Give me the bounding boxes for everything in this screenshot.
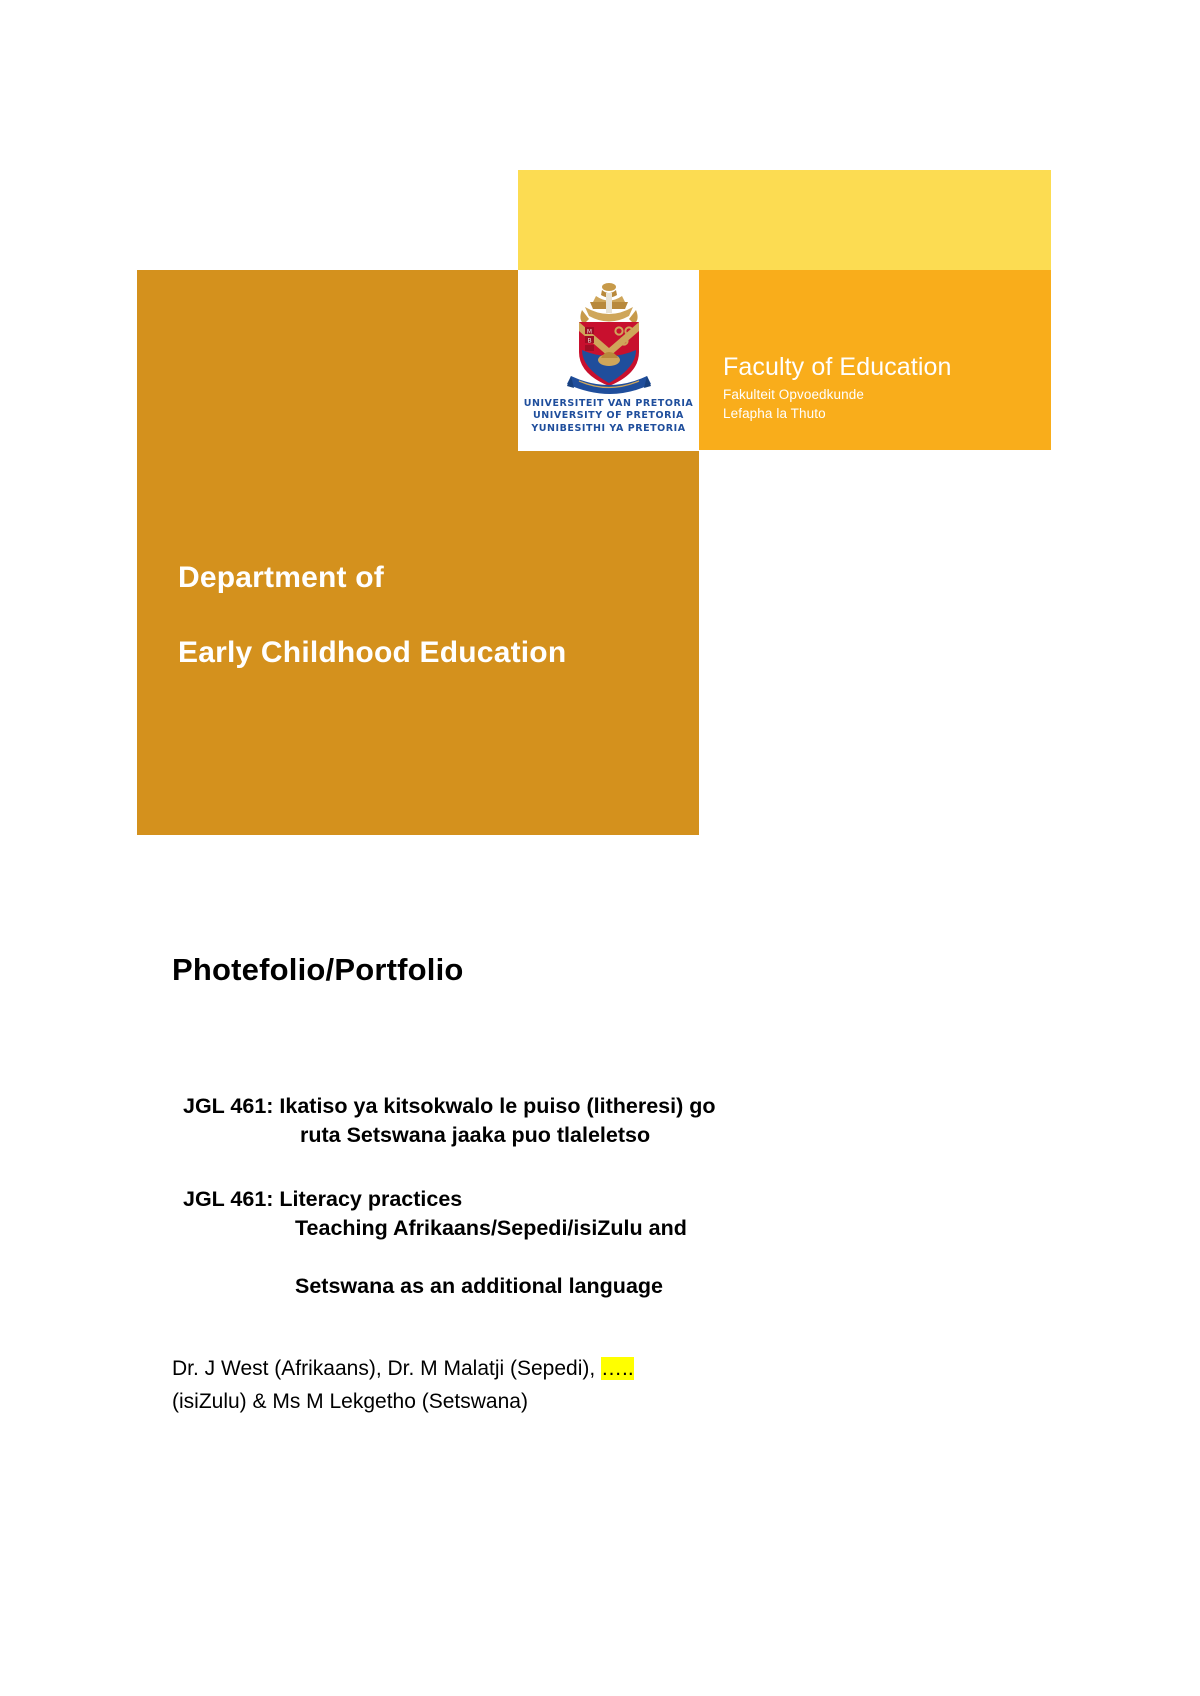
department-title-line-1: Department of	[178, 540, 566, 615]
author-credits-text: Dr. J West (Afrikaans), Dr. M Malatji (S…	[172, 1357, 601, 1380]
svg-text:B: B	[587, 338, 591, 345]
author-placeholder-highlight: …..	[601, 1357, 634, 1380]
faculty-name-nso: Lefapha la Thuto	[723, 405, 952, 424]
module-continuation-3: Setswana as an additional language	[183, 1272, 687, 1301]
faculty-name-af: Fakulteit Opvoedkunde	[723, 386, 952, 405]
university-logo-plate: M B UNIVERSITEIT VAN PRETORIA UNIVERSITY…	[518, 270, 699, 451]
wordmark-line-en: UNIVERSITY OF PRETORIA	[518, 410, 699, 422]
document-page: M B UNIVERSITEIT VAN PRETORIA UNIVERSITY…	[0, 0, 1200, 1696]
module-code-title-1: JGL 461: Ikatiso ya kitsokwalo le puiso …	[183, 1094, 716, 1118]
author-credits: Dr. J West (Afrikaans), Dr. M Malatji (S…	[172, 1352, 634, 1418]
department-title: Department of Early Childhood Education	[178, 540, 566, 690]
svg-text:M: M	[586, 329, 591, 336]
module-entry-literacy: JGL 461: Literacy practices Teaching Afr…	[183, 1156, 687, 1330]
faculty-banner: M B UNIVERSITEIT VAN PRETORIA UNIVERSITY…	[0, 0, 1200, 900]
faculty-lockup: Faculty of Education Fakulteit Opvoedkun…	[723, 352, 952, 423]
module-code-title-2: JGL 461: Literacy practices	[183, 1187, 462, 1211]
module-continuation-1: ruta Setswana jaaka puo tlaleletso	[183, 1121, 716, 1150]
banner-band-pale-yellow	[518, 170, 1051, 270]
department-title-line-2: Early Childhood Education	[178, 615, 566, 690]
module-continuation-2: Teaching Afrikaans/Sepedi/isiZulu and	[183, 1214, 687, 1243]
page-title: Photefolio/Portfolio	[172, 952, 464, 988]
faculty-name-en: Faculty of Education	[723, 352, 952, 382]
university-of-pretoria-crest-icon: M B	[549, 280, 669, 398]
university-wordmark: UNIVERSITEIT VAN PRETORIA UNIVERSITY OF …	[518, 398, 699, 435]
wordmark-line-af: UNIVERSITEIT VAN PRETORIA	[518, 398, 699, 410]
wordmark-line-zu: YUNIBESITHI YA PRETORIA	[518, 423, 699, 435]
author-credits-line-1: Dr. J West (Afrikaans), Dr. M Malatji (S…	[172, 1352, 634, 1385]
author-credits-line-2: (isiZulu) & Ms M Lekgetho (Setswana)	[172, 1385, 634, 1418]
